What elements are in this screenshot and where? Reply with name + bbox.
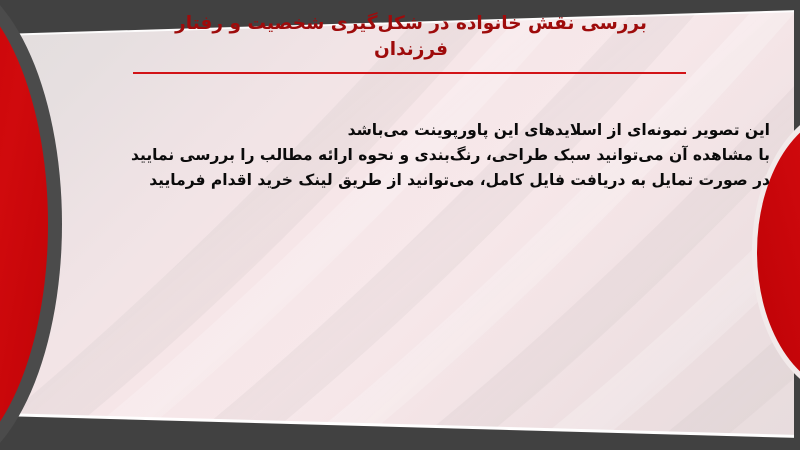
body-line-3: در صورت تمایل به دریافت فایل کامل، می‌تو… (130, 168, 770, 193)
body-line-2: با مشاهده آن می‌توانید سبک طراحی، رنگ‌بن… (130, 143, 770, 168)
slide-body: این تصویر نمونه‌ای از اسلایدهای این پاور… (130, 118, 770, 193)
title-underline-rule (133, 72, 686, 74)
slide-title: بررسی نقش خانواده در شکل‌گیری شخصیت و رف… (130, 11, 692, 64)
body-line-1: این تصویر نمونه‌ای از اسلایدهای این پاور… (130, 118, 770, 143)
background-arc-pattern (0, 0, 800, 450)
presentation-slide: بررسی نقش خانواده در شکل‌گیری شخصیت و رف… (0, 0, 800, 450)
